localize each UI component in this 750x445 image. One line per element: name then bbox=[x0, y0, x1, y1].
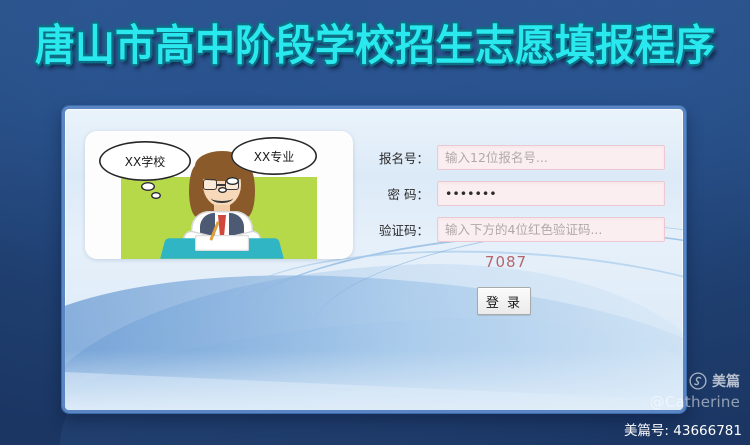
thought-dot-major-small bbox=[218, 187, 227, 193]
panel-wave-fade bbox=[62, 350, 686, 410]
registration-number-label: 报名号： bbox=[365, 148, 429, 167]
thought-dot-major-large bbox=[226, 177, 239, 185]
thought-bubble-school: XX学校 bbox=[99, 141, 191, 181]
student-illustration: XX学校 XX专业 bbox=[85, 131, 353, 259]
paper-sheet bbox=[195, 235, 249, 251]
student-glasses-left bbox=[203, 179, 217, 190]
captcha-input[interactable] bbox=[437, 217, 665, 242]
login-button[interactable]: 登 录 bbox=[477, 287, 531, 315]
captcha-code-row: 7087 bbox=[365, 253, 665, 271]
registration-number-input[interactable] bbox=[437, 145, 665, 170]
submit-row: 登 录 bbox=[365, 287, 665, 315]
password-label: 密 码： bbox=[365, 184, 429, 203]
captcha-code[interactable]: 7087 bbox=[485, 253, 527, 271]
thought-bubble-major-label: XX专业 bbox=[254, 148, 294, 165]
watermark-brand: 美篇 bbox=[689, 371, 740, 391]
watermark: 美篇 @Catherine bbox=[650, 371, 740, 411]
page-title-bar: 唐山市高中阶段学校招生志愿填报程序 bbox=[0, 0, 750, 84]
captcha-label: 验证码： bbox=[365, 220, 429, 239]
page-title: 唐山市高中阶段学校招生志愿填报程序 bbox=[35, 11, 715, 72]
password-input[interactable] bbox=[437, 181, 665, 206]
form-row-captcha: 验证码： bbox=[365, 217, 665, 242]
watermark-username: @Catherine bbox=[650, 393, 740, 411]
thought-dot-school-large bbox=[141, 182, 155, 191]
thought-bubble-school-label: XX学校 bbox=[125, 153, 165, 170]
watermark-id: 美篇号: 43666781 bbox=[624, 419, 742, 439]
form-row-registration-number: 报名号： bbox=[365, 145, 665, 170]
thought-dot-school-small bbox=[151, 192, 161, 199]
panel-wave-light bbox=[62, 312, 686, 413]
thought-bubble-major: XX专业 bbox=[231, 137, 317, 175]
login-panel: XX学校 XX专业 报名号： 密 码： 验证码： 7087 登 录 bbox=[62, 106, 686, 413]
student-smile bbox=[211, 193, 233, 203]
student-glasses-bridge bbox=[217, 184, 225, 186]
login-form: 报名号： 密 码： 验证码： 7087 登 录 bbox=[365, 145, 665, 315]
meipian-logo-icon bbox=[689, 372, 707, 390]
form-row-password: 密 码： bbox=[365, 181, 665, 206]
watermark-brand-label: 美篇 bbox=[712, 371, 740, 391]
